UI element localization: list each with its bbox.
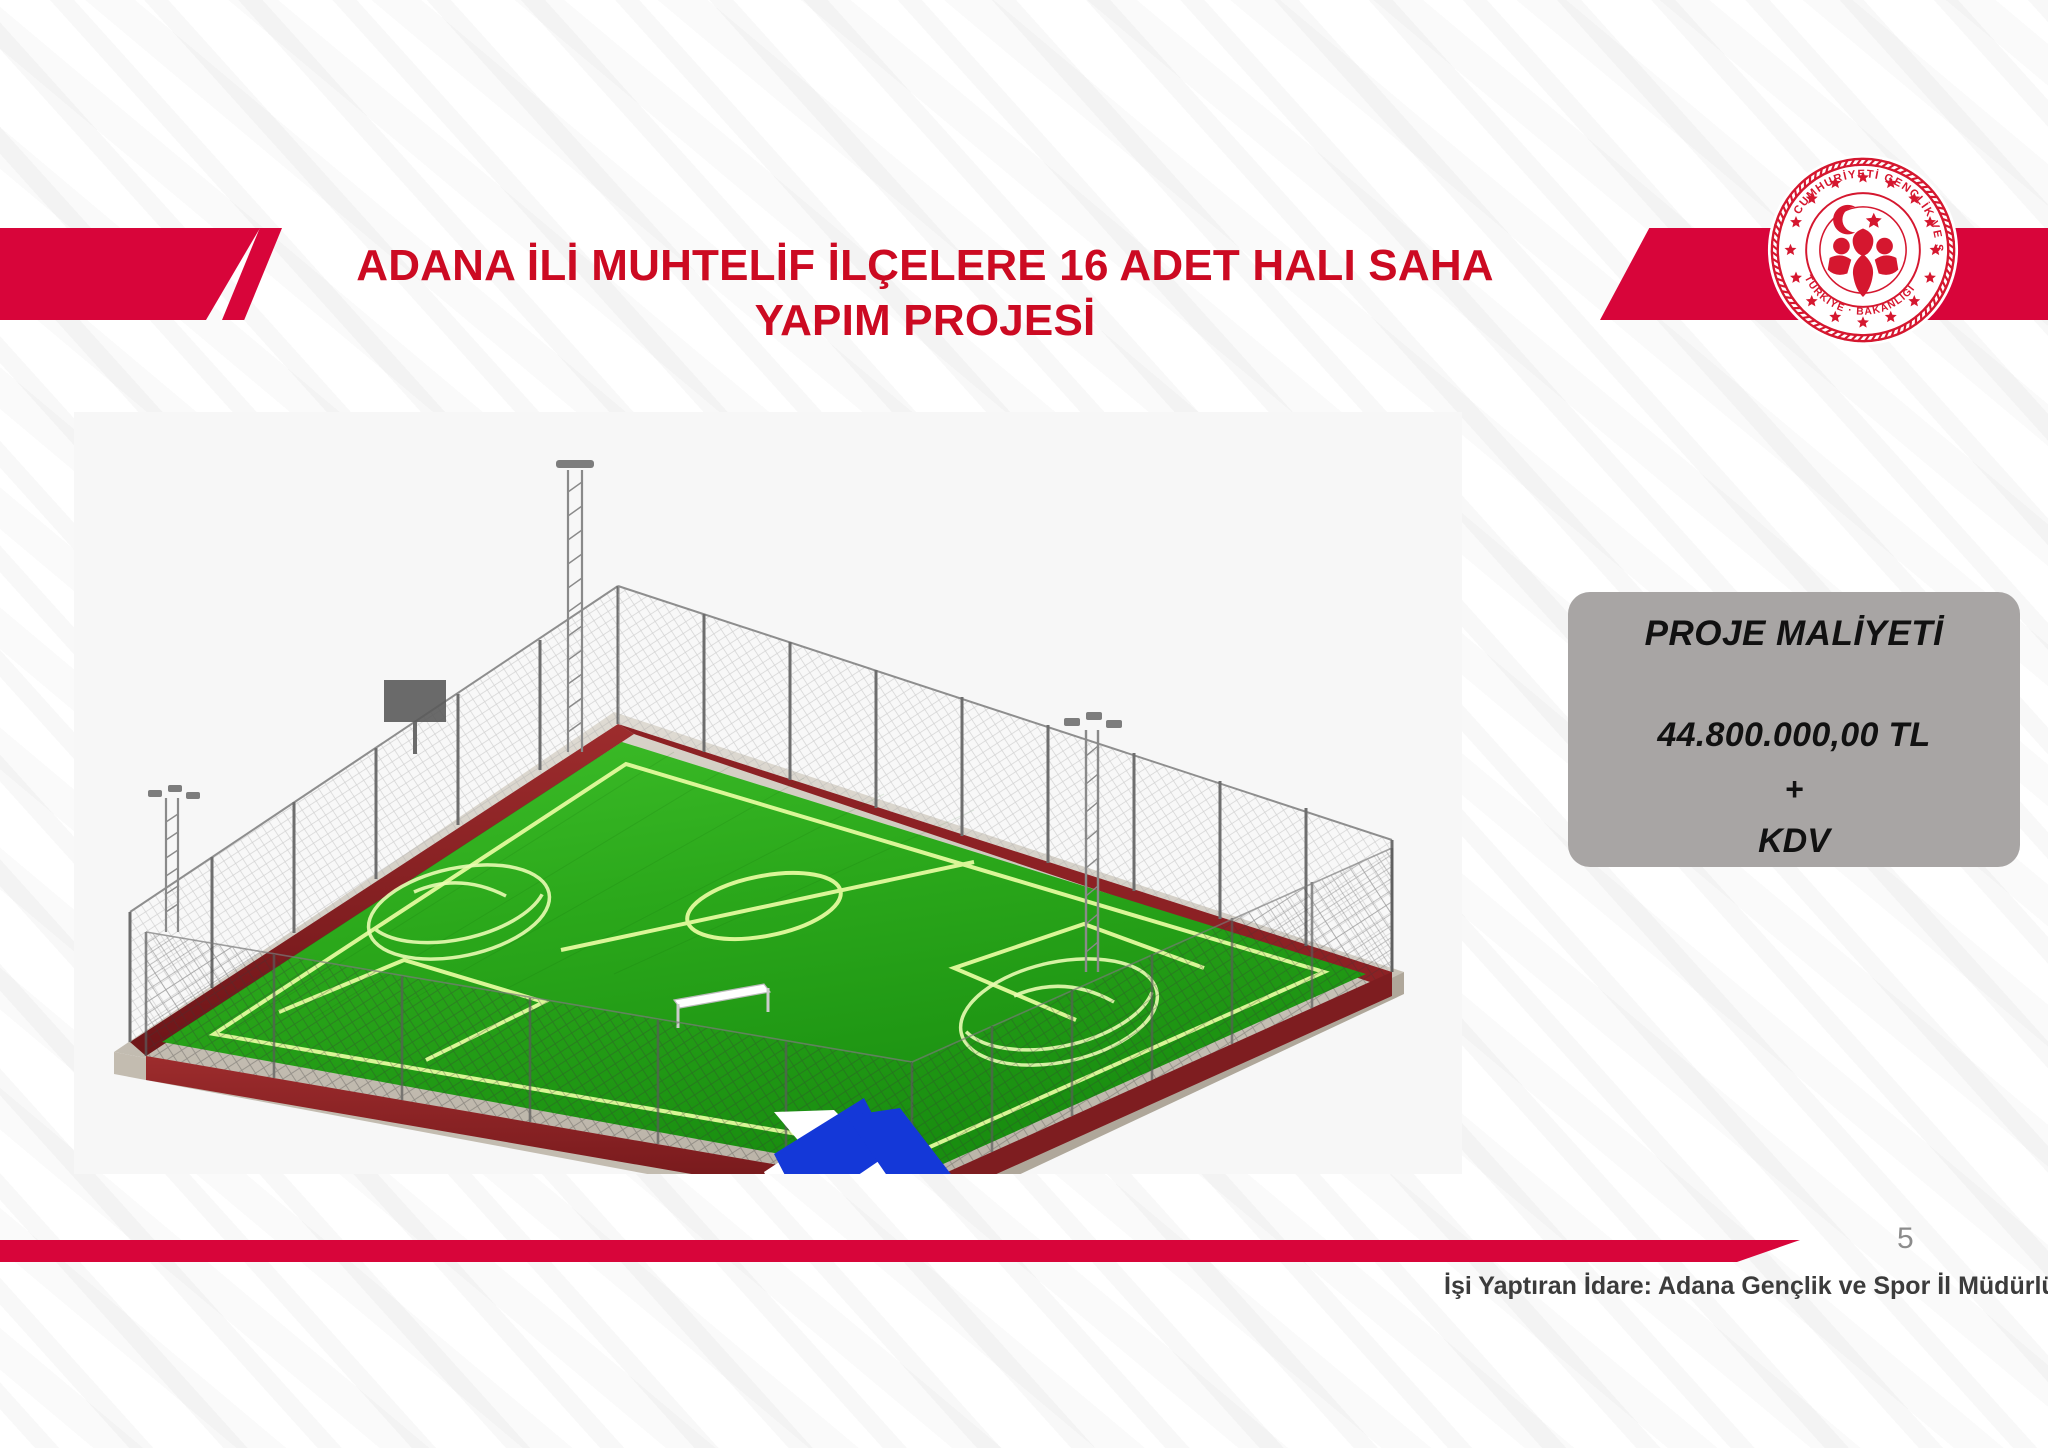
project-cost-box: PROJE MALİYETİ 44.800.000,00 TL + KDV xyxy=(1568,592,2020,867)
cost-plus-sign: + xyxy=(1785,771,1804,808)
footer-authority-text: İşi Yaptıran İdare: Adana Gençlik ve Spo… xyxy=(1444,1272,2048,1301)
project-render-image xyxy=(74,412,1462,1174)
cost-tax-label: KDV xyxy=(1758,822,1830,861)
page-title: ADANA İLİ MUHTELİF İLÇELERE 16 ADET HALI… xyxy=(300,238,1550,349)
red-banner-left xyxy=(0,228,260,320)
cost-box-title: PROJE MALİYETİ xyxy=(1645,614,1944,654)
slide-header: ADANA İLİ MUHTELİF İLÇELERE 16 ADET HALI… xyxy=(0,0,2048,360)
footer-red-bar xyxy=(0,1240,1800,1262)
cost-amount: 44.800.000,00 TL xyxy=(1657,716,1930,755)
ministry-seal: CUMHURİYETİ GENÇLİK VE SPOR TÜRKİYE · BA… xyxy=(1765,152,1961,348)
page-title-line-2: YAPIM PROJESİ xyxy=(300,293,1550,348)
slide-canvas: ADANA İLİ MUHTELİF İLÇELERE 16 ADET HALI… xyxy=(0,0,2048,1448)
page-title-line-1: ADANA İLİ MUHTELİF İLÇELERE 16 ADET HALI… xyxy=(300,238,1550,293)
page-number: 5 xyxy=(1897,1222,1914,1256)
